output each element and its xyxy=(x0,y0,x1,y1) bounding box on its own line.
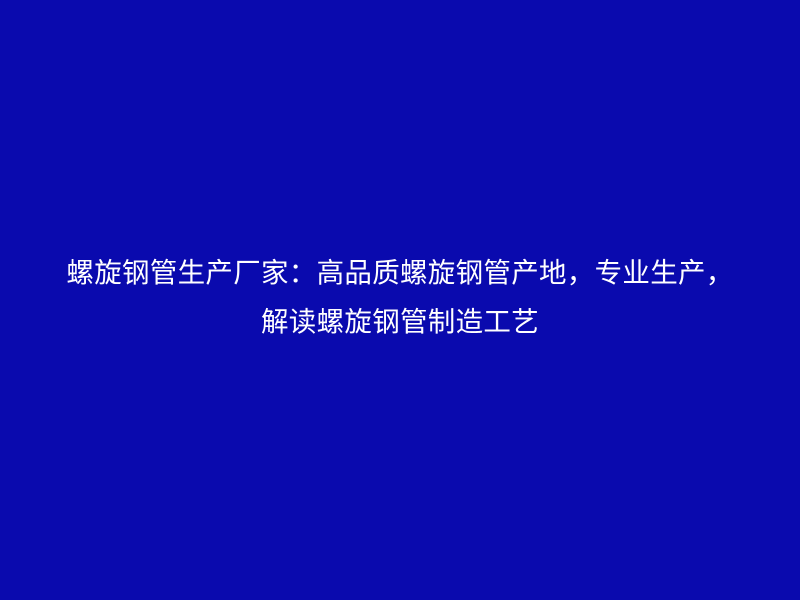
headline-container: 螺旋钢管生产厂家：高品质螺旋钢管产地，专业生产，解读螺旋钢管制造工艺 xyxy=(0,249,800,347)
banner-canvas: 螺旋钢管生产厂家：高品质螺旋钢管产地，专业生产，解读螺旋钢管制造工艺 xyxy=(0,0,800,600)
banner-headline: 螺旋钢管生产厂家：高品质螺旋钢管产地，专业生产，解读螺旋钢管制造工艺 xyxy=(56,249,744,347)
